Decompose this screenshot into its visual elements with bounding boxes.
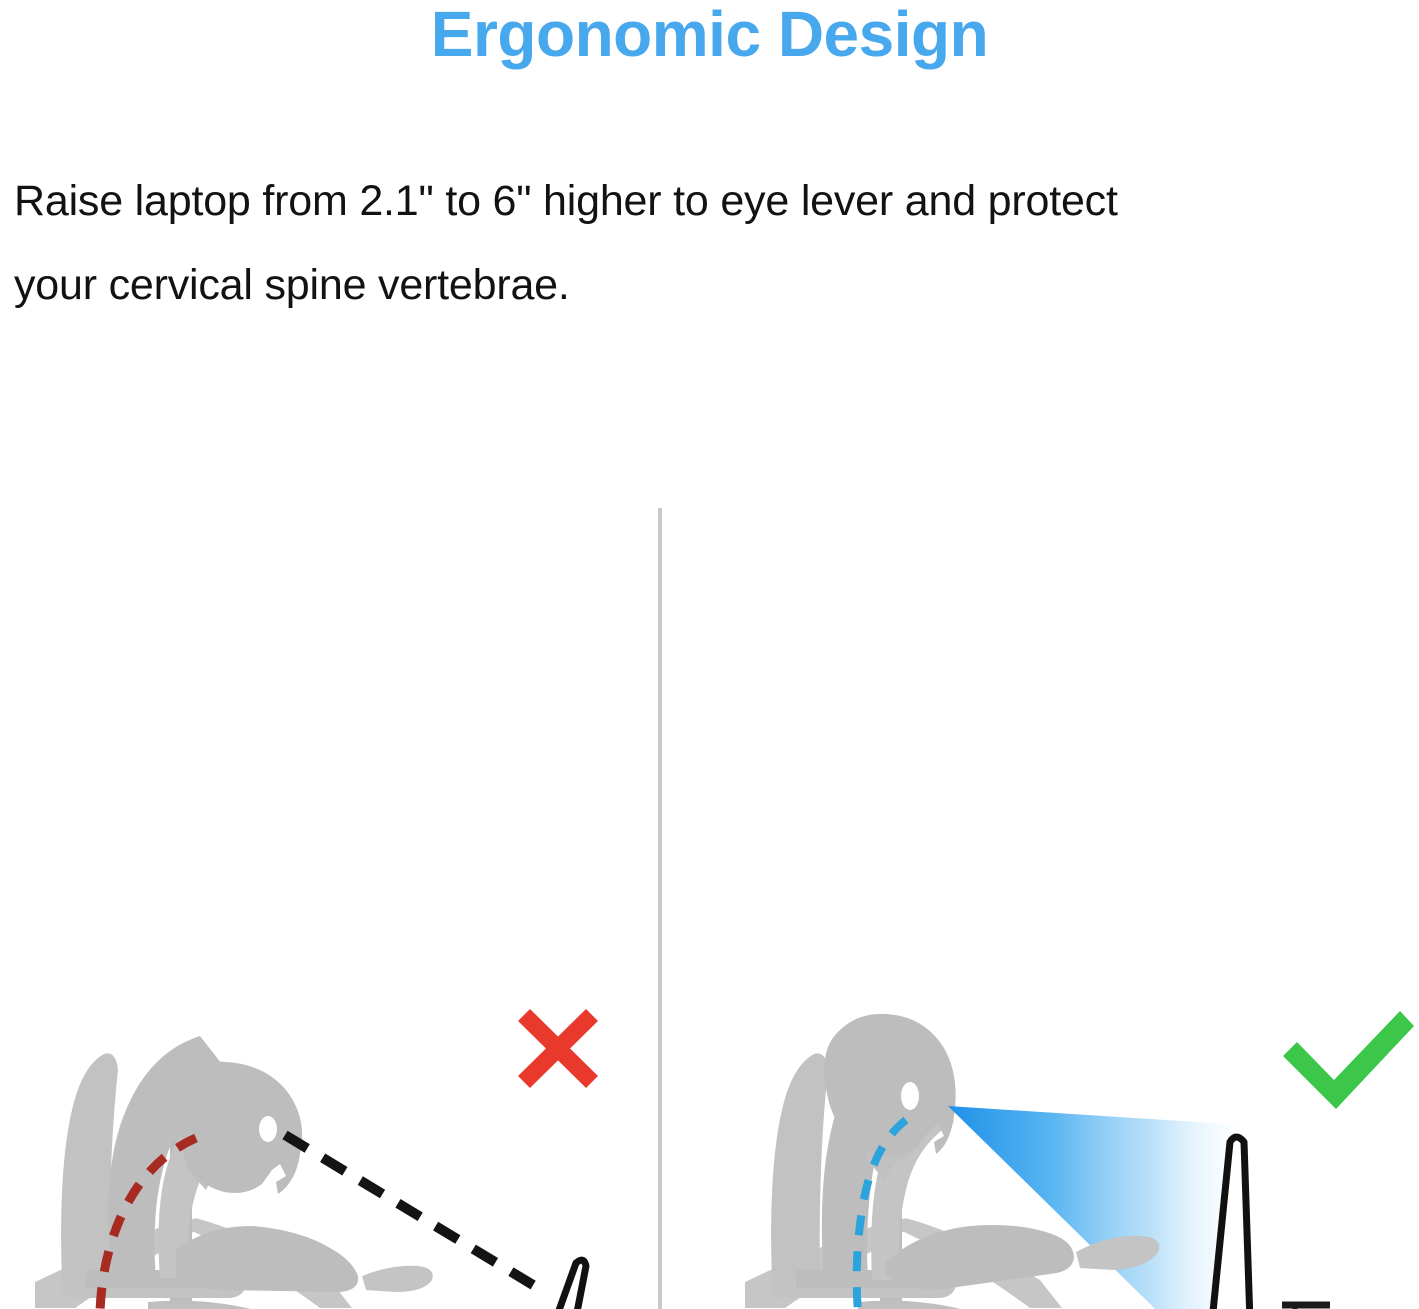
eye-right-figure <box>901 1082 919 1110</box>
ergonomic-design-infographic: Ergonomic Design Raise laptop from 2.1" … <box>0 0 1419 1309</box>
eye-left-figure <box>259 1116 277 1142</box>
description-line-1: Raise laptop from 2.1" to 6" higher to e… <box>14 160 1404 244</box>
description-line-2: your cervical spine vertebrae. <box>14 244 1404 328</box>
page-description: Raise laptop from 2.1" to 6" higher to e… <box>14 160 1404 328</box>
illustration-area: 2.1"- 6" <box>0 470 1419 1309</box>
page-title: Ergonomic Design <box>0 2 1419 66</box>
